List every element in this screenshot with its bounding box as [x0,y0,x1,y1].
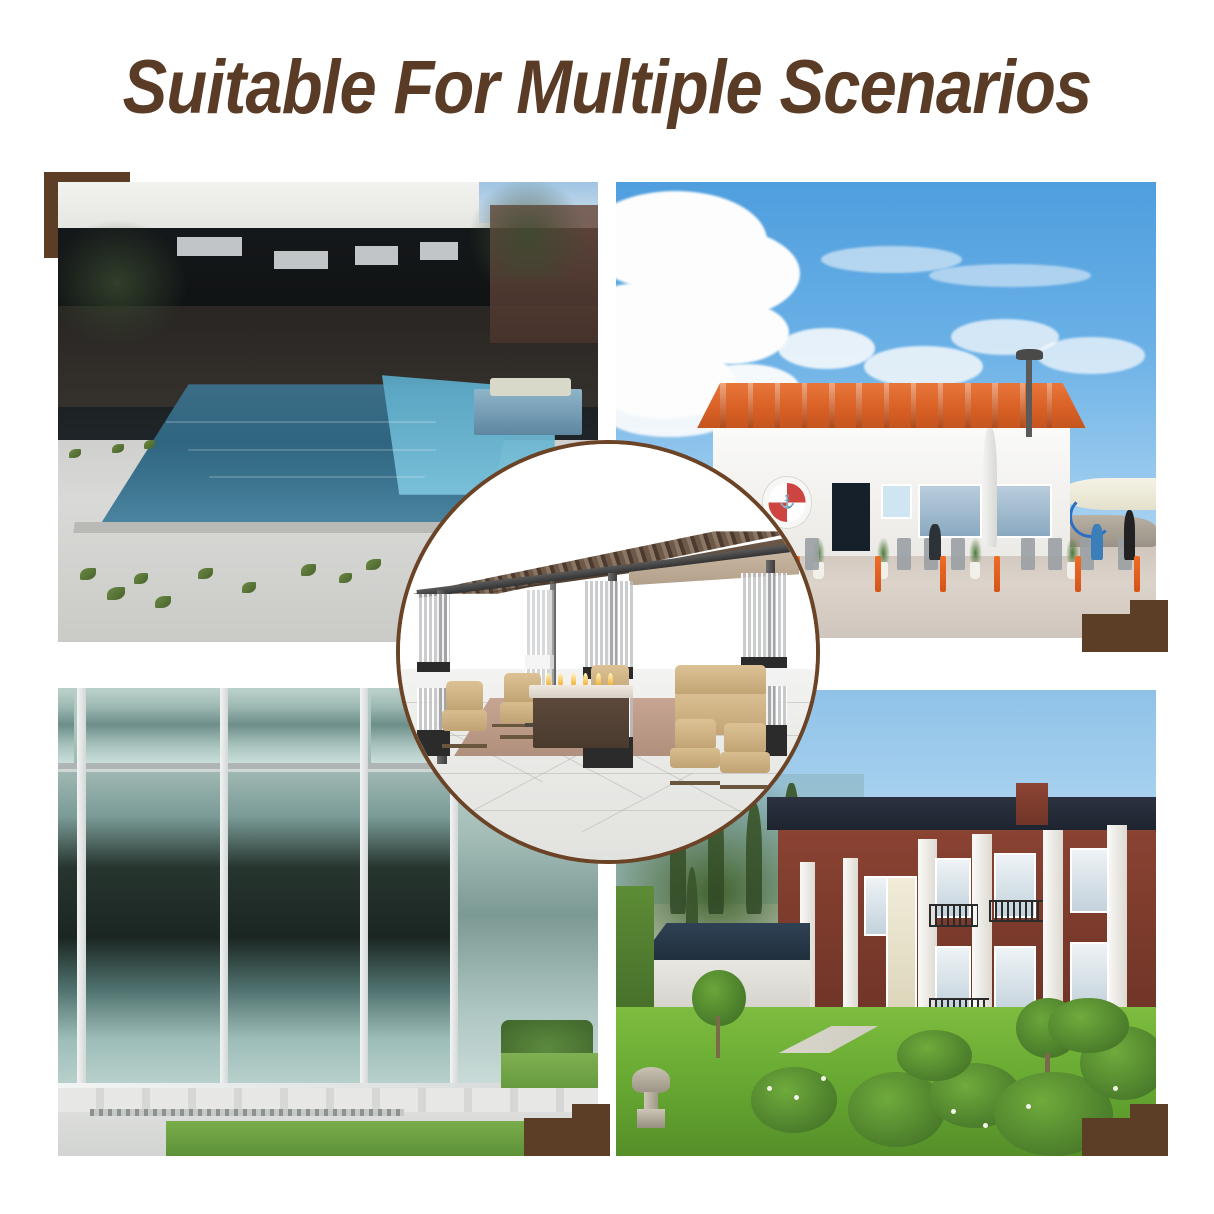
lounge-chair-seat [442,710,488,731]
poolside-sofa [474,389,582,435]
window-reflection-2 [274,251,328,269]
curtained-window [886,876,917,1010]
fire-pit-tabletop [529,685,633,697]
tree-right [468,182,587,279]
lounge-chair-seat [720,752,770,773]
corner-accent-bottom-right-arm [1082,1118,1168,1156]
roof-tile [911,383,916,429]
corner-accent-top-right-arm [1082,614,1168,652]
cloud [778,328,875,369]
seated-person [1091,524,1103,560]
lounge-chair-back [446,681,483,710]
chair-frame [442,744,488,748]
patio-sofa-back [675,665,767,694]
roof-tile [829,383,834,429]
glass-pane-upper [58,693,74,763]
garden-shrub [1048,998,1129,1054]
fire-flame [558,673,563,685]
mullion [360,688,368,1090]
corner-accent-bottom-left-arm [524,1118,610,1156]
roof-tile [748,383,753,429]
water-ripple-2 [188,449,436,451]
white-column [843,858,858,1021]
urn-bowl [632,1067,670,1092]
cafe-chair [1021,538,1035,570]
tree-left [58,219,188,348]
mansion-window [1070,848,1109,913]
water-ripple-1 [166,421,436,423]
cafe-signboard [881,484,912,520]
cafe-window [918,484,981,538]
mullion [77,688,86,1090]
mesh-curtain-left [417,594,450,756]
orange-bollard [1075,556,1081,592]
curtain-accent [417,662,450,672]
product-inset-gazebo: Hardtop Gazebo [396,440,820,864]
glass-pane-main [58,772,77,1090]
white-column [1043,830,1064,1026]
glass-pane-main [225,772,360,1090]
orange-bollard [994,556,1000,592]
white-flower [1113,1086,1118,1091]
fire-flame [546,673,551,685]
roof-tile [802,383,807,429]
mansion-roof [767,797,1156,830]
glass-pane-upper [80,693,220,763]
roof-tile [1020,383,1025,429]
cloud [1037,337,1145,373]
white-flower [767,1086,772,1091]
fire-pit-table [533,694,629,748]
roof-tile [938,383,943,429]
cafe-chair [951,538,965,570]
roof-tile [884,383,889,429]
curtain-tieback [417,672,450,688]
street-lamp-head [1016,349,1043,360]
cloud [864,346,983,387]
urn-base [637,1109,666,1128]
urn-stem [644,1092,658,1110]
fire-flame [596,673,601,685]
roof-tile [965,383,970,429]
topiary-trunk [716,1016,720,1058]
side-table [492,724,525,727]
tile-joint [400,810,816,811]
marketing-banner: Suitable For Multiple Scenarios [0,0,1214,1214]
lounge-chair-seat [670,748,720,769]
standing-person [1124,510,1136,560]
roof-tile [992,383,997,429]
cafe-doorway [832,483,870,551]
cloud [929,264,1091,287]
potted-plant [967,538,983,579]
white-flower [951,1109,956,1114]
drainage-grate [90,1109,403,1116]
chair-frame [720,785,770,789]
seated-person [929,524,941,560]
glass-pane-upper [225,693,365,763]
window-reflection-1 [177,237,242,255]
roof-tile [775,383,780,429]
tile-joint [400,773,816,774]
white-column [1107,825,1126,1021]
iron-balcony [929,904,978,927]
fire-flame [571,673,576,685]
cafe-chair [1048,538,1062,570]
lounge-chair-back [724,723,766,752]
mullion [220,688,228,1090]
cafe-chair [897,538,911,570]
window-reflection-4 [420,242,458,260]
glass-pane-main [85,772,220,1090]
roof-tile [1047,383,1052,429]
orange-bollard [1134,556,1140,592]
fire-flame [583,673,588,685]
curtain-tieback [525,655,554,669]
chair-frame [670,781,720,785]
orange-bollard [940,556,946,592]
cafe-window [994,484,1052,538]
roof-tile [720,383,725,429]
stone-garden-urn [632,1067,670,1128]
brick-chimney [1016,783,1048,825]
roof-tile [856,383,861,429]
street-lamp-post [1026,355,1031,437]
iron-balcony [989,900,1043,923]
fire-flame [608,673,613,685]
orange-bollard [875,556,881,592]
window-reflection-3 [355,246,398,264]
poolside-cushion [490,378,571,396]
page-title: Suitable For Multiple Scenarios [73,44,1141,131]
lounge-chair-back [675,719,717,748]
closed-patio-umbrella [983,428,997,547]
